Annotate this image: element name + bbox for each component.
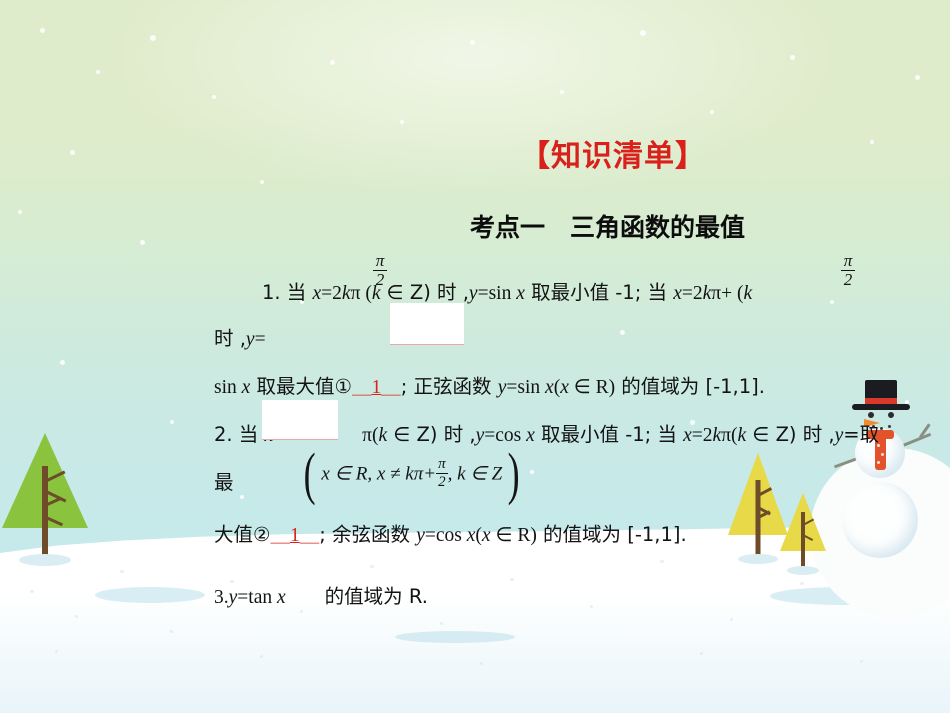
math-line-2: 时 ,y= <box>214 322 266 351</box>
var-x: x <box>277 587 286 608</box>
answer-underline-right: ＿ <box>381 377 401 398</box>
section-heading: 考点一 三角函数的最值 <box>470 208 745 244</box>
answer-underline-left: ＿ <box>270 525 290 546</box>
floating-fraction-2: π 2 <box>841 252 855 289</box>
pi-symbol: π <box>414 464 424 485</box>
answer-underline-left: ＿ <box>352 377 372 398</box>
var-k: k <box>379 425 388 446</box>
set-cond-1: x ∈ R, x ≠ k <box>321 464 413 485</box>
line6-cosine-text: ; 余弦函数 <box>319 523 416 546</box>
var-x: x <box>673 283 682 304</box>
line6-max-text: 大值② <box>214 523 270 546</box>
pi-symbol: π <box>351 283 361 304</box>
var-y: y <box>246 329 255 350</box>
fn-sin: =sin <box>506 377 545 398</box>
var-k: k <box>743 283 752 304</box>
var-y: y <box>835 425 844 446</box>
var-k: k <box>713 425 722 446</box>
op-eq: = <box>255 329 266 350</box>
slide-canvas: 【知识清单】 考点一 三角函数的最值 1. 当 x=2kπ (k ∈ Z) 时 … <box>0 0 950 713</box>
blank-cover-box-2 <box>262 400 338 440</box>
math-line-6: 大值②＿1＿; 余弦函数 y=cos x(x ∈ R) 的值域为 [-1,1]. <box>214 518 687 547</box>
fraction-numerator: π <box>436 457 448 472</box>
var-k: k <box>342 283 351 304</box>
line1-min-text: 取最小值 -1; 当 <box>525 281 673 304</box>
line4-tail: =取 <box>843 423 879 446</box>
set-builder-expression: ( x ∈ R, x ≠ kπ+π2, k ∈ Z ) <box>300 452 523 496</box>
in-R: ∈ R) <box>569 377 615 398</box>
paren-close-big: ) <box>508 452 520 496</box>
fn-sin: =sin <box>478 283 517 304</box>
line1-prefix: 1. 当 <box>262 281 313 304</box>
line4-min-text: 取最小值 -1; 当 <box>535 423 683 446</box>
var-x: x <box>313 283 322 304</box>
line6-range-text: 的值域为 [-1,1]. <box>537 523 687 546</box>
op-eq-2: =2 <box>692 425 713 446</box>
var-k: k <box>738 425 747 446</box>
fraction-pi-over-2: π2 <box>436 457 448 490</box>
blank-cover-box-1 <box>390 303 464 345</box>
answer-value-1: 1 <box>372 377 382 398</box>
pi-plus: π+ <box>711 283 732 304</box>
math-line-3: sin x 取最大值①＿1＿; 正弦函数 y=sin x(x ∈ R) 的值域为… <box>214 370 765 399</box>
fraction-denominator: 2 <box>373 271 387 289</box>
line4-prefix: 2. 当 <box>214 423 265 446</box>
pi-paren: π( <box>362 425 378 446</box>
set-cond-2: , k ∈ Z <box>448 464 503 485</box>
line3-max-text: 取最大值① <box>250 375 352 398</box>
var-y: y <box>476 425 485 446</box>
math-line-7: 3.y=tan x 的值域为 R. <box>214 580 428 609</box>
var-x: x <box>516 283 525 304</box>
line7-range-text: 的值域为 R. <box>286 585 428 608</box>
fraction-denominator: 2 <box>436 475 448 490</box>
page-title: 【知识清单】 <box>520 131 706 175</box>
fn-cos: =cos <box>484 425 526 446</box>
var-x: x <box>482 525 491 546</box>
var-x: x <box>526 425 535 446</box>
pi-paren-2: π( <box>721 425 737 446</box>
answer-underline-right: ＿ <box>300 525 320 546</box>
line3-sine-text: ; 正弦函数 <box>401 375 498 398</box>
var-k: k <box>703 283 712 304</box>
op-eq-2b: =2 <box>682 283 703 304</box>
math-line-5: 最 <box>214 466 234 495</box>
var-x: x <box>560 377 569 398</box>
line1-tail-gap: ( <box>732 283 743 304</box>
fn-sin: sin <box>214 377 242 398</box>
var-x: x <box>242 377 251 398</box>
var-x: x <box>545 377 554 398</box>
var-x: x <box>683 425 692 446</box>
fraction-denominator: 2 <box>841 271 855 289</box>
var-y: y <box>416 525 425 546</box>
fraction-numerator: π <box>373 252 387 270</box>
line1-gap: ( <box>360 283 371 304</box>
floating-fraction-1: π 2 <box>373 252 387 289</box>
line4-inz-shi-2: ∈ Z) 时 , <box>746 423 834 446</box>
set-expression-body: x ∈ R, x ≠ kπ+π2, k ∈ Z <box>319 457 504 490</box>
line7-number: 3. <box>214 587 229 608</box>
slide-text-content: 【知识清单】 考点一 三角函数的最值 1. 当 x=2kπ (k ∈ Z) 时 … <box>0 0 950 713</box>
fn-tan: =tan <box>237 587 277 608</box>
fraction-numerator: π <box>841 252 855 270</box>
line4-inz-shi: ∈ Z) 时 , <box>387 423 475 446</box>
answer-value-2: 1 <box>290 525 300 546</box>
math-line-1: 1. 当 x=2kπ (k ∈ Z) 时 ,y=sin x 取最小值 -1; 当… <box>262 276 752 305</box>
var-y: y <box>229 587 238 608</box>
line1-inz-shi: ∈ Z) 时 , <box>380 281 468 304</box>
var-y: y <box>469 283 478 304</box>
in-R: ∈ R) <box>491 525 537 546</box>
line3-range-text: 的值域为 [-1,1]. <box>615 375 765 398</box>
op-plus: + <box>423 464 436 485</box>
line2-shi: 时 , <box>214 327 246 350</box>
line5-zui: 最 <box>214 471 234 494</box>
paren-open-big: ( <box>304 452 316 496</box>
op-eq-2: =2 <box>321 283 342 304</box>
fn-cos: =cos <box>425 525 467 546</box>
